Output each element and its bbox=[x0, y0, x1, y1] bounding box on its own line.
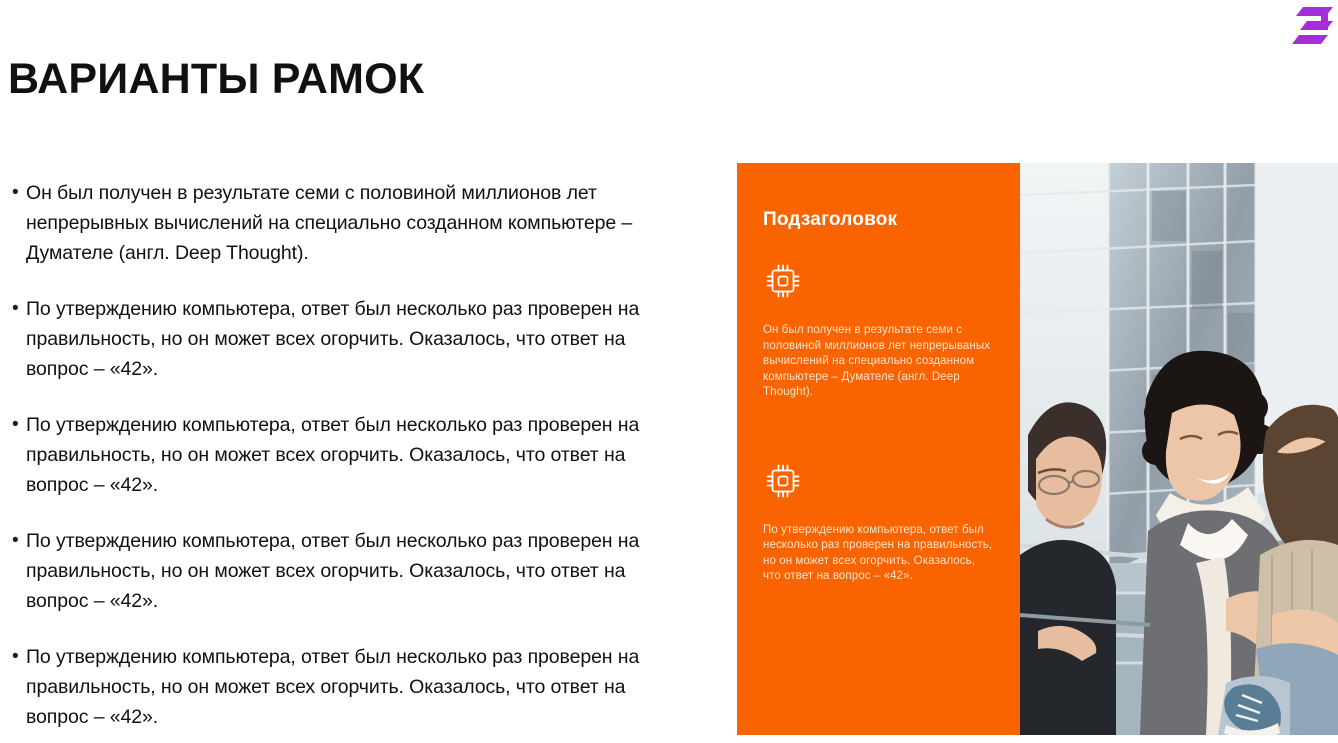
panel-divider-space bbox=[763, 431, 994, 461]
panel-block: Он был получен в результате семи с полов… bbox=[763, 261, 994, 401]
list-item: • По утверждению компьютера, ответ был н… bbox=[8, 294, 668, 384]
bullet-marker: • bbox=[8, 294, 26, 384]
list-item: • По утверждению компьютера, ответ был н… bbox=[8, 410, 668, 500]
slide: ВАРИАНТЫ РАМОК • Он был получен в резуль… bbox=[0, 0, 1338, 743]
bullet-marker: • bbox=[8, 642, 26, 732]
orange-panel: Подзаголовок bbox=[737, 163, 1020, 735]
bullet-marker: • bbox=[8, 410, 26, 500]
bullet-marker: • bbox=[8, 526, 26, 616]
list-item: • Он был получен в результате семи с пол… bbox=[8, 178, 668, 268]
bullet-text: Он был получен в результате семи с полов… bbox=[26, 178, 652, 268]
panel-block-text: По утверждению компьютера, ответ был нес… bbox=[763, 523, 994, 585]
brand-logo bbox=[1287, 6, 1333, 48]
cpu-chip-icon bbox=[763, 261, 803, 301]
bullet-text: По утверждению компьютера, ответ был нес… bbox=[26, 642, 652, 732]
panel-block-text: Он был получен в результате семи с полов… bbox=[763, 323, 994, 401]
panel-block: По утверждению компьютера, ответ был нес… bbox=[763, 461, 994, 585]
three-young-people-laughing-photo bbox=[1020, 163, 1338, 735]
content-card: Подзаголовок bbox=[737, 163, 1338, 735]
bullet-list: • Он был получен в результате семи с пол… bbox=[8, 178, 668, 732]
panel-subtitle: Подзаголовок bbox=[763, 209, 994, 231]
bullet-text: По утверждению компьютера, ответ был нес… bbox=[26, 410, 652, 500]
page-title: ВАРИАНТЫ РАМОК bbox=[8, 56, 424, 103]
bullet-text: По утверждению компьютера, ответ был нес… bbox=[26, 526, 652, 616]
cpu-chip-icon bbox=[763, 461, 803, 501]
bullet-text: По утверждению компьютера, ответ был нес… bbox=[26, 294, 652, 384]
bullet-marker: • bbox=[8, 178, 26, 268]
list-item: • По утверждению компьютера, ответ был н… bbox=[8, 526, 668, 616]
list-item: • По утверждению компьютера, ответ был н… bbox=[8, 642, 668, 732]
